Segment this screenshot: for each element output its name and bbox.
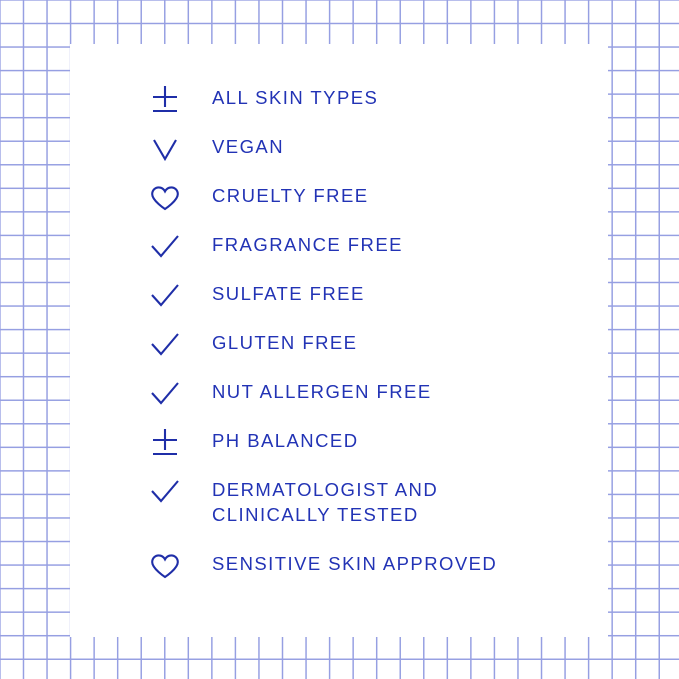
claim-row: SENSITIVE SKIN APPROVED <box>150 550 580 599</box>
claim-row: VEGAN <box>150 133 580 182</box>
claim-label: NUT ALLERGEN FREE <box>212 378 580 404</box>
claim-row: GLUTEN FREE <box>150 329 580 378</box>
checkmark-icon <box>150 329 212 361</box>
product-claims-graphic: ALL SKIN TYPES VEGAN CRUELTY FREE <box>0 0 679 679</box>
claim-row: ALL SKIN TYPES <box>150 84 580 133</box>
plus-minus-icon <box>150 427 212 459</box>
checkmark-icon <box>150 280 212 312</box>
claim-label: SENSITIVE SKIN APPROVED <box>212 550 580 576</box>
heart-outline-icon <box>150 550 212 582</box>
checkmark-icon <box>150 378 212 410</box>
claim-label: GLUTEN FREE <box>212 329 580 355</box>
claim-label: SULFATE FREE <box>212 280 580 306</box>
claim-row: PH BALANCED <box>150 427 580 476</box>
claim-row: DERMATOLOGIST AND CLINICALLY TESTED <box>150 476 580 550</box>
claim-row: NUT ALLERGEN FREE <box>150 378 580 427</box>
vegan-leaf-v-icon <box>150 133 212 165</box>
claim-label: FRAGRANCE FREE <box>212 231 580 257</box>
claim-row: SULFATE FREE <box>150 280 580 329</box>
claim-label: ALL SKIN TYPES <box>212 84 580 110</box>
checkmark-icon <box>150 476 212 508</box>
claims-list: ALL SKIN TYPES VEGAN CRUELTY FREE <box>150 84 580 599</box>
claim-label: CRUELTY FREE <box>212 182 580 208</box>
heart-outline-icon <box>150 182 212 214</box>
checkmark-icon <box>150 231 212 263</box>
claim-label: PH BALANCED <box>212 427 580 453</box>
claim-row: CRUELTY FREE <box>150 182 580 231</box>
plus-minus-icon <box>150 84 212 116</box>
claim-label: VEGAN <box>212 133 580 159</box>
claim-label: DERMATOLOGIST AND CLINICALLY TESTED <box>212 476 580 527</box>
claim-row: FRAGRANCE FREE <box>150 231 580 280</box>
